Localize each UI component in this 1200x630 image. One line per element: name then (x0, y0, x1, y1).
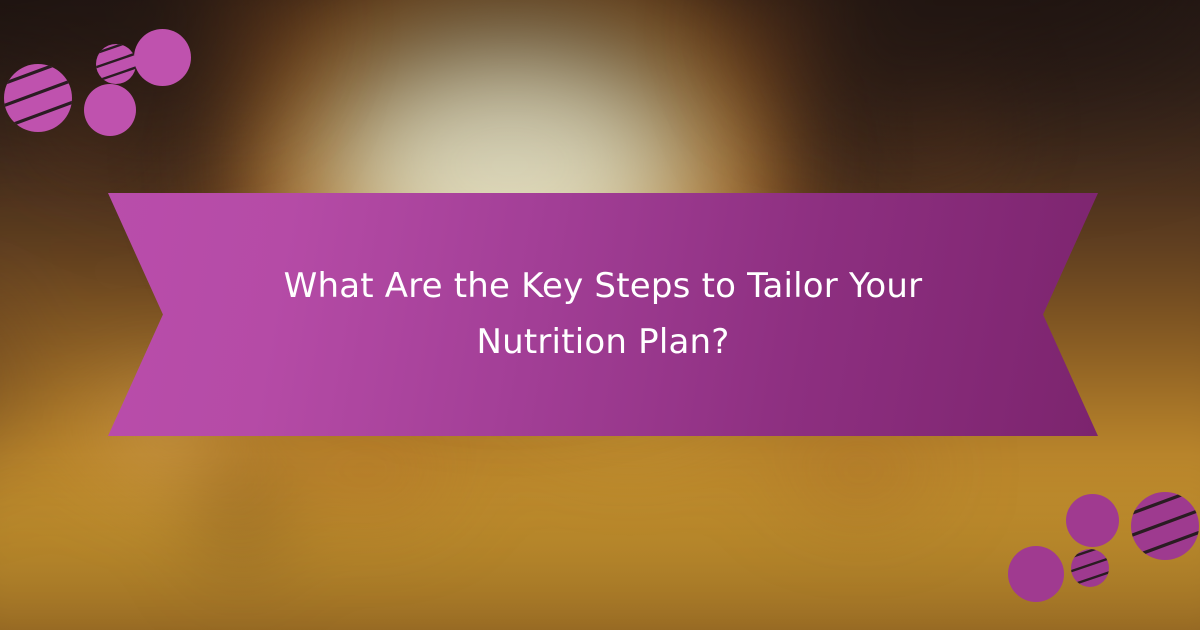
circle-plain-medium (84, 84, 136, 136)
stripes-icon (1131, 492, 1199, 560)
circle-plain-large (1066, 494, 1119, 547)
circle-striped-small (96, 44, 136, 84)
stripes-icon (4, 64, 72, 132)
circle-plain-large (134, 29, 191, 86)
banner-stage: What Are the Key Steps to Tailor Your Nu… (0, 0, 1200, 630)
circle-striped-small (1071, 549, 1109, 587)
title-banner: What Are the Key Steps to Tailor Your Nu… (108, 193, 1098, 436)
circle-striped-large (4, 64, 72, 132)
stripes-icon (1071, 549, 1109, 587)
circle-plain-medium (1008, 546, 1064, 602)
page-title: What Are the Key Steps to Tailor Your Nu… (273, 259, 933, 369)
circle-striped-large (1131, 492, 1199, 560)
stripes-icon (96, 44, 136, 84)
